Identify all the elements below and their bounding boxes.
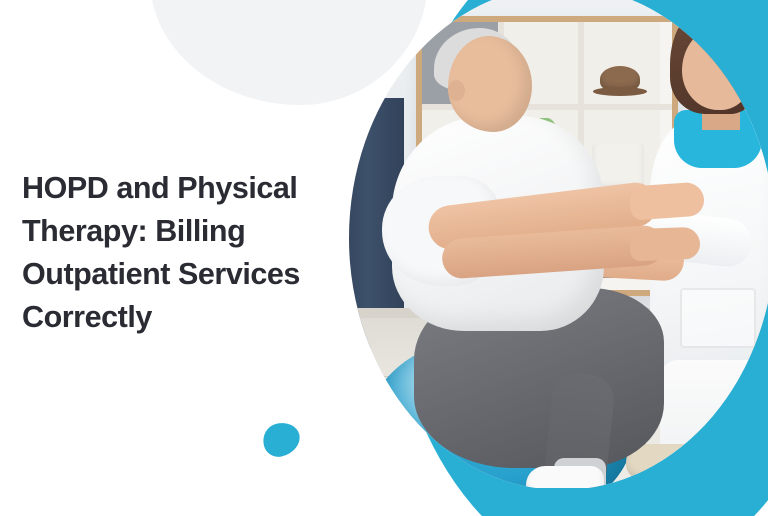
photo-patient-hand-lower [629,227,700,261]
photo-patient-hand-upper [629,181,705,220]
page-title-line-2: Therapy: Billing [22,210,362,253]
photo-therapist-pocket [680,288,756,348]
clinic-photo-scene [330,0,768,488]
hero-banner: HOPD and Physical Therapy: Billing Outpa… [0,0,768,516]
photo-patient-shoe-right [526,466,604,488]
photo-patient-ear [448,80,465,101]
page-title-line-4: Correctly [22,296,362,339]
photo-hat-object [600,66,640,92]
page-title-line-1: HOPD and Physical [22,167,362,210]
hero-photo [330,0,768,488]
page-title: HOPD and Physical Therapy: Billing Outpa… [22,167,362,339]
gray-blob-shape [150,0,428,105]
page-title-line-3: Outpatient Services [22,253,362,296]
cyan-triangle-accent [260,419,304,460]
